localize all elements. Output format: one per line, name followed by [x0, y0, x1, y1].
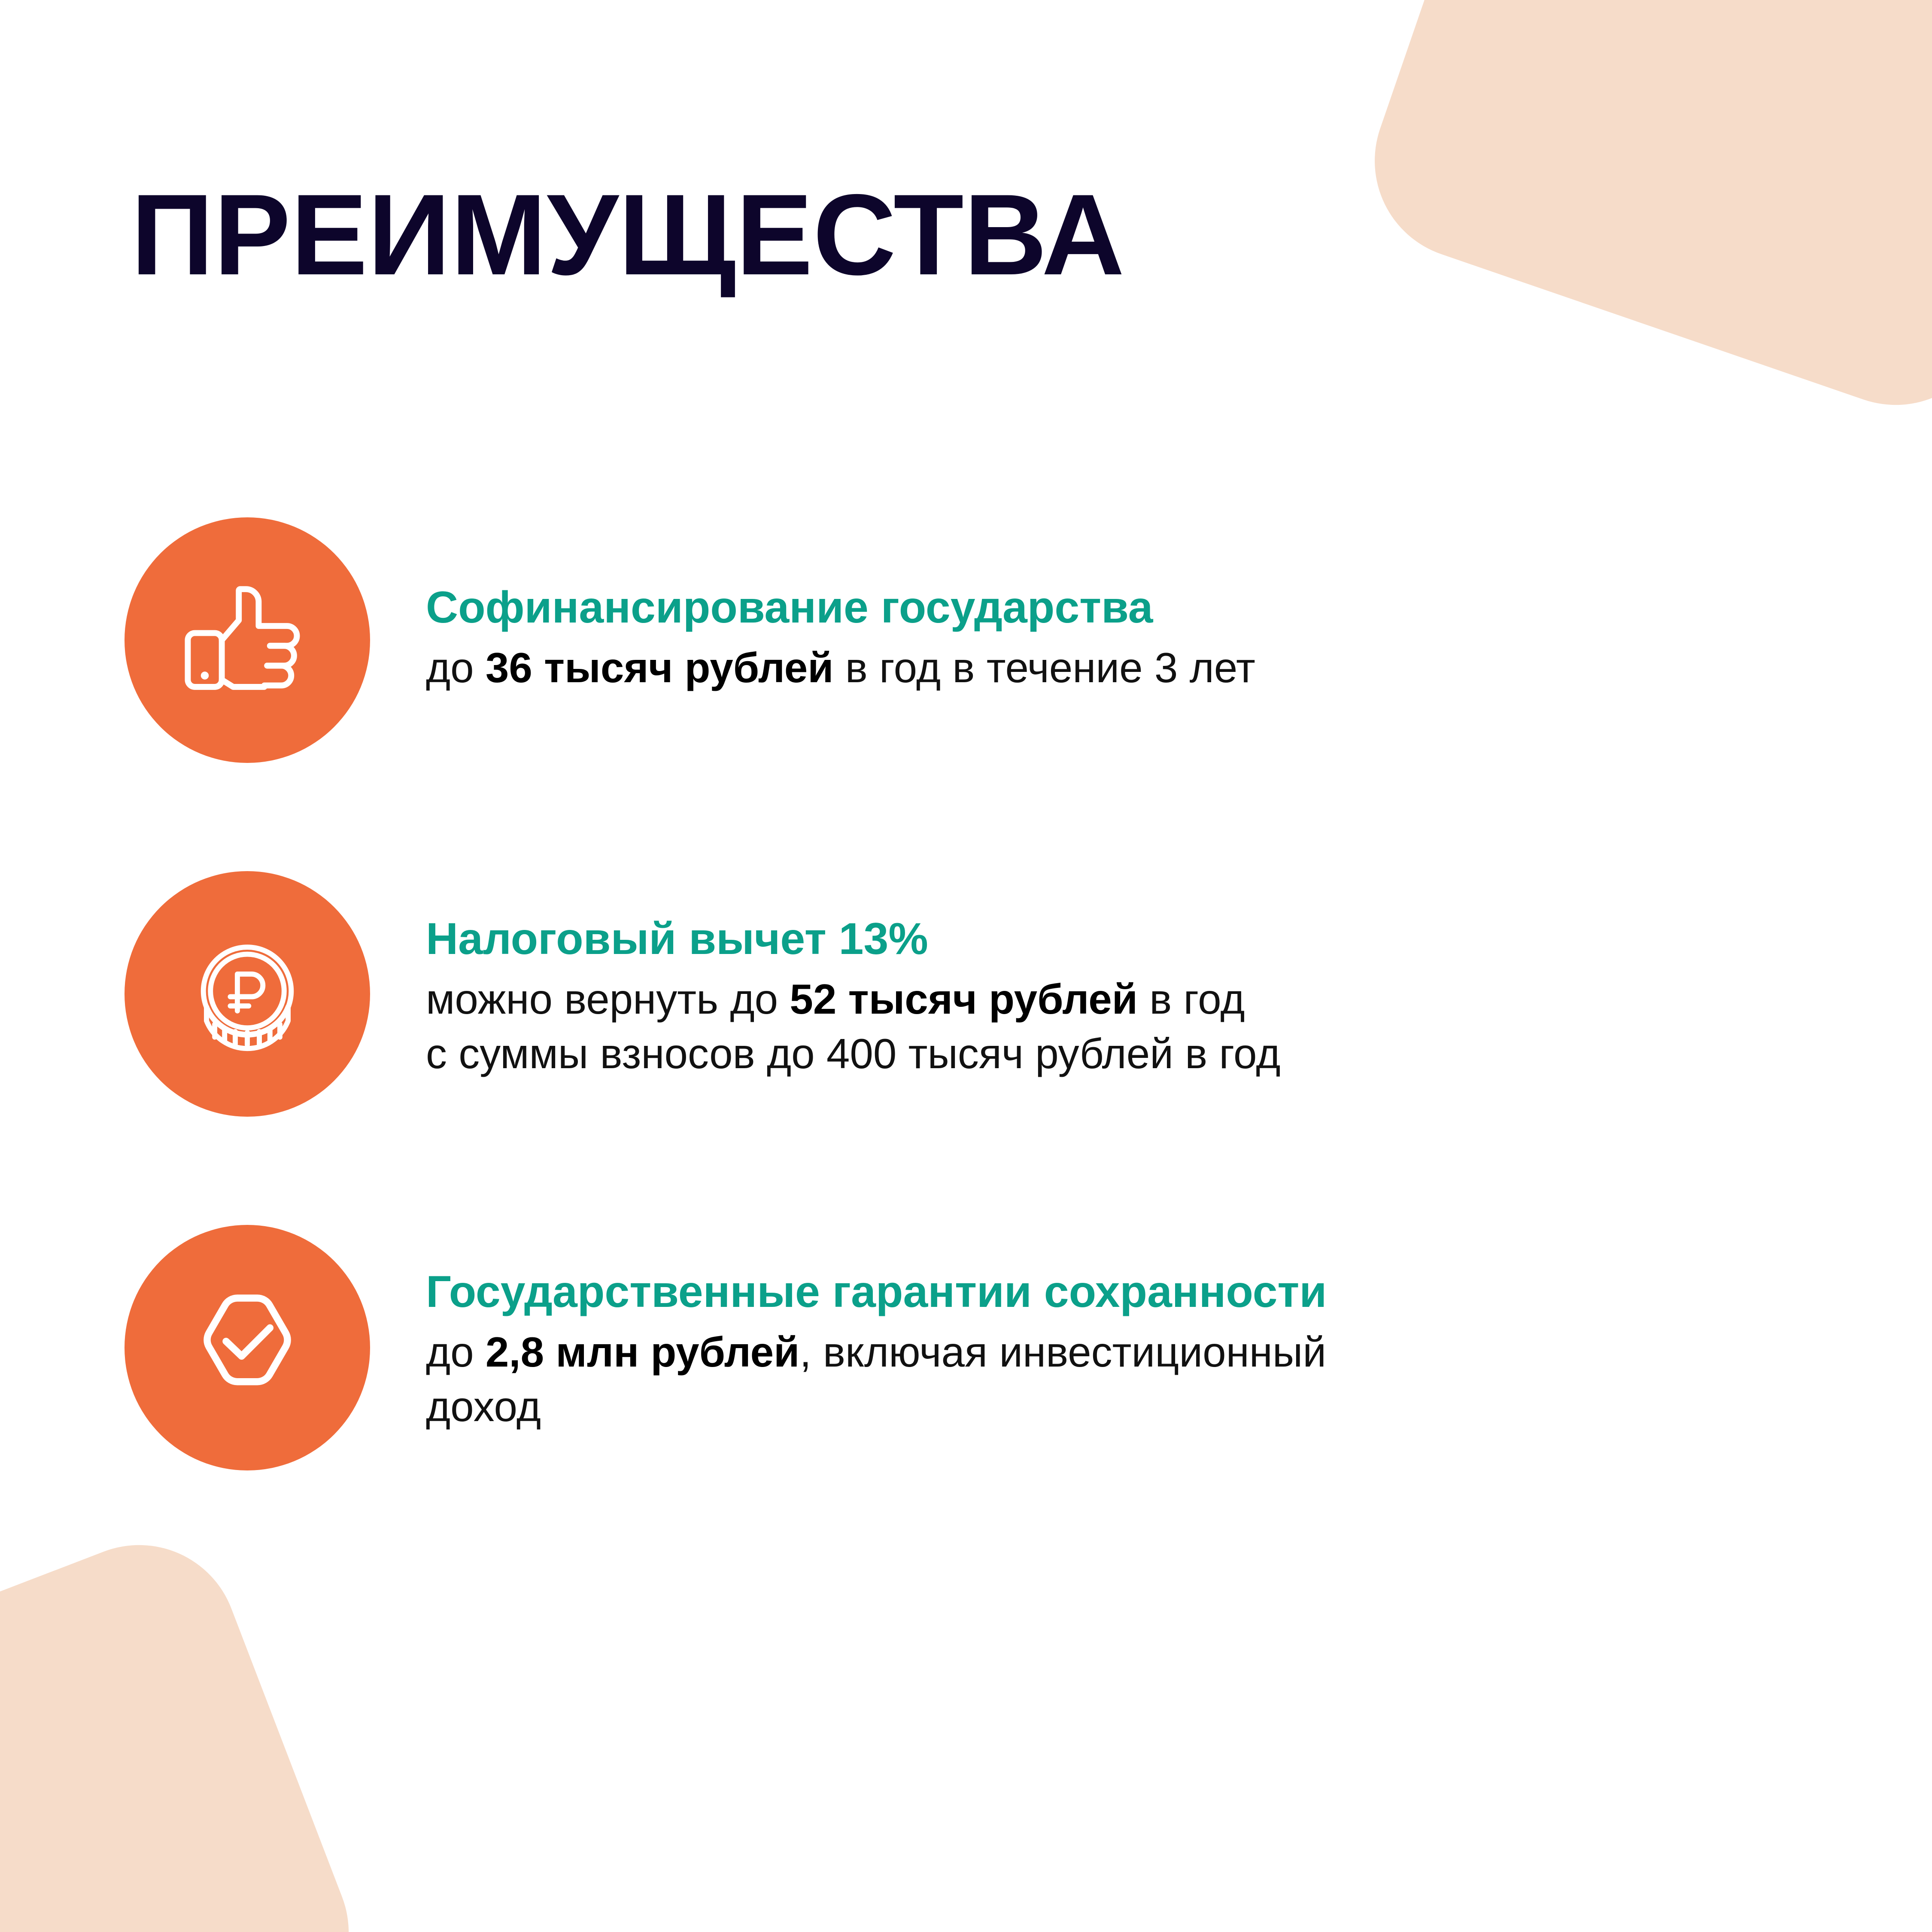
- hexagon-check-icon: [176, 1277, 318, 1419]
- decorative-shape-top-right: [1348, 0, 1932, 431]
- benefit-body-part: до: [426, 1328, 486, 1376]
- benefit-body-part: с суммы взносов до 400 тысяч рублей в го…: [426, 1030, 1281, 1077]
- benefit-body-line: доход: [426, 1379, 1799, 1434]
- benefit-icon-badge: [125, 871, 370, 1117]
- benefit-body-line: до 2,8 млн рублей, включая инвестиционны…: [426, 1325, 1799, 1379]
- benefit-body-part: , включая инвестиционный: [799, 1328, 1326, 1376]
- slide-root: ПРЕИМУЩЕСТВА: [0, 0, 1932, 1932]
- benefits-list: Софинансирование государства до 36 тысяч…: [125, 517, 1799, 1470]
- benefit-body-emphasis: 52 тысяч рублей: [790, 975, 1138, 1023]
- benefit-item: Софинансирование государства до 36 тысяч…: [125, 517, 1799, 763]
- benefit-heading: Государственные гарантии сохранности: [426, 1266, 1799, 1318]
- thumbs-up-icon: [176, 569, 318, 711]
- benefit-body-part: можно вернуть до: [426, 975, 790, 1023]
- benefit-body-line: можно вернуть до 52 тысяч рублей в год: [426, 972, 1799, 1027]
- benefit-body: до 36 тысяч рублей в год в течение 3 лет: [426, 641, 1799, 695]
- benefit-body-emphasis: 36 тысяч рублей: [486, 644, 834, 691]
- benefit-icon-badge: [125, 517, 370, 763]
- benefit-body-part: в год: [1138, 975, 1245, 1023]
- benefit-item: Государственные гарантии сохранности до …: [125, 1225, 1799, 1470]
- benefit-text-block: Софинансирование государства до 36 тысяч…: [370, 517, 1799, 695]
- benefit-item: Налоговый вычет 13% можно вернуть до 52 …: [125, 871, 1799, 1117]
- benefit-body-part: в год в течение 3 лет: [834, 644, 1255, 691]
- benefit-heading: Софинансирование государства: [426, 582, 1799, 634]
- benefit-body: можно вернуть до 52 тысяч рублей в год с…: [426, 972, 1799, 1081]
- benefit-heading: Налоговый вычет 13%: [426, 913, 1799, 965]
- benefit-icon-badge: [125, 1225, 370, 1470]
- benefit-body: до 2,8 млн рублей, включая инвестиционны…: [426, 1325, 1799, 1434]
- benefit-text-block: Налоговый вычет 13% можно вернуть до 52 …: [370, 871, 1799, 1081]
- benefit-body-part: до: [426, 644, 486, 691]
- ruble-coin-icon: [176, 923, 318, 1065]
- benefit-body-part: доход: [426, 1383, 541, 1430]
- page-title: ПРЕИМУЩЕСТВА: [131, 177, 1125, 292]
- decorative-shape-bottom-left: [0, 1516, 377, 1932]
- benefit-body-line: с суммы взносов до 400 тысяч рублей в го…: [426, 1027, 1799, 1081]
- benefit-body-line: до 36 тысяч рублей в год в течение 3 лет: [426, 641, 1799, 695]
- benefit-text-block: Государственные гарантии сохранности до …: [370, 1225, 1799, 1434]
- benefit-body-emphasis: 2,8 млн рублей: [486, 1328, 800, 1376]
